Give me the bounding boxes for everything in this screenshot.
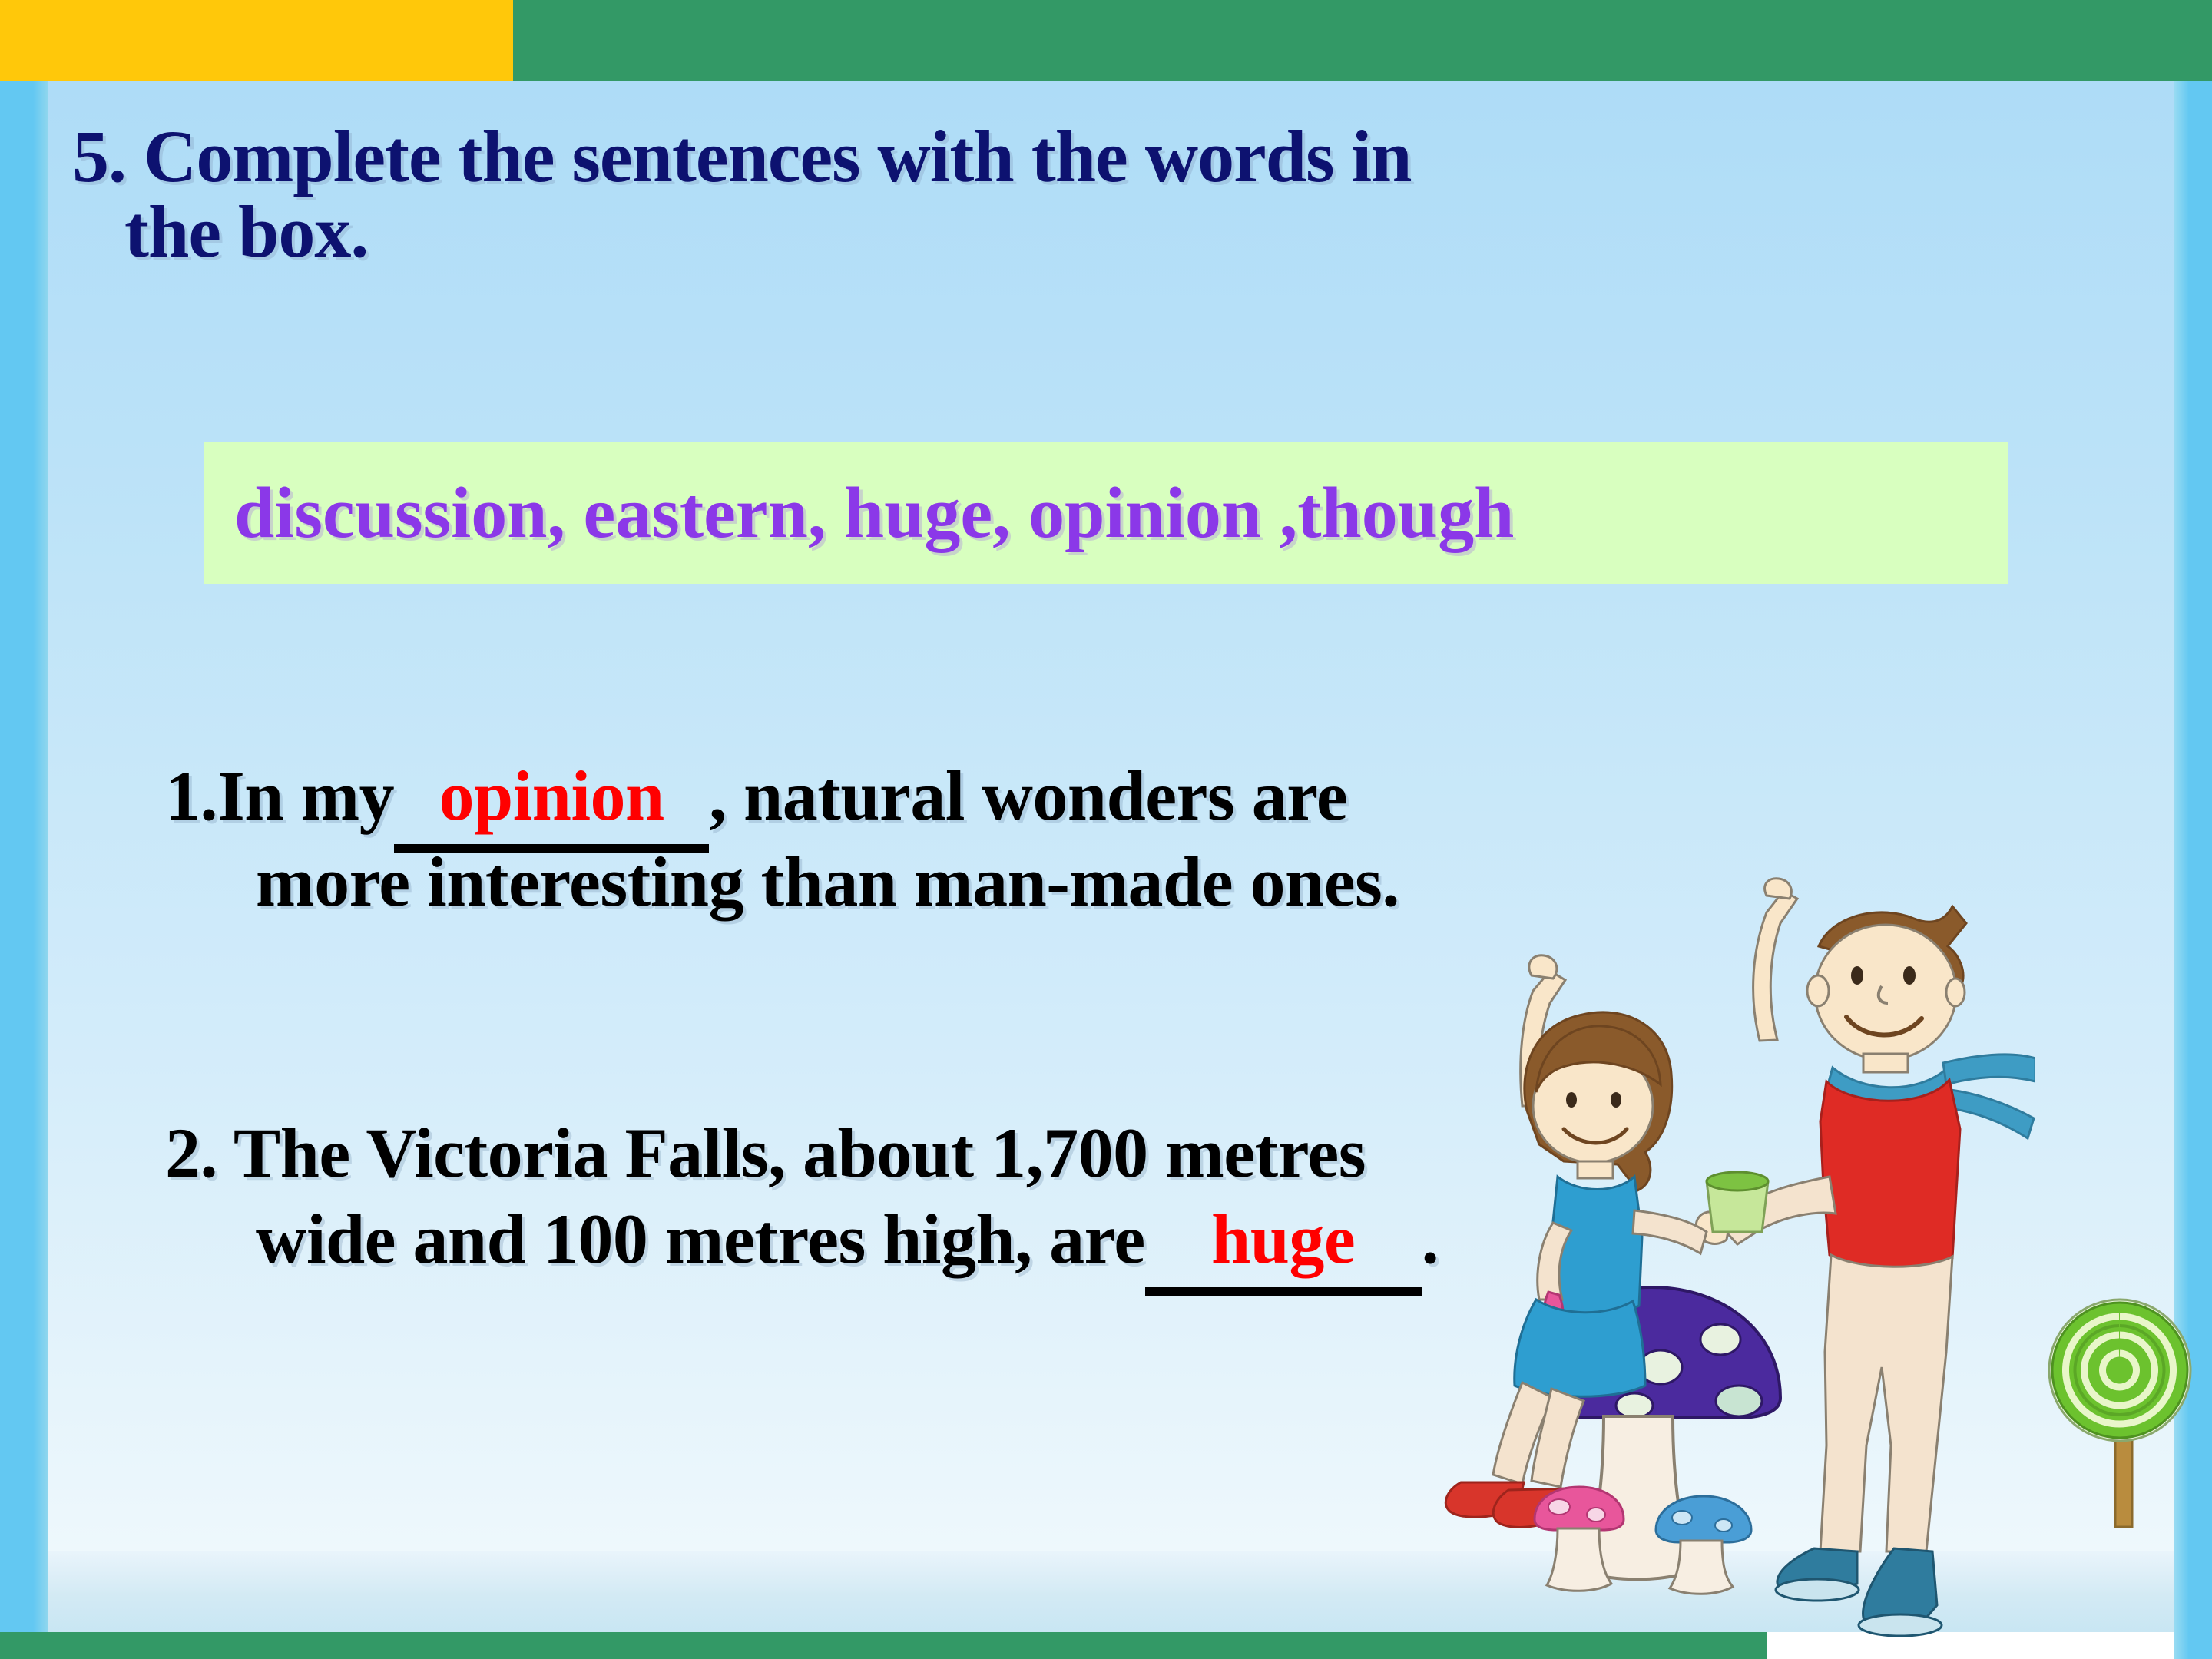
exercise-2-continuation-after: . bbox=[1422, 1200, 1439, 1278]
exercise-1-blank-rule bbox=[394, 844, 709, 853]
exercise-1-after: , natural wonders are bbox=[709, 757, 1347, 835]
bottom-green-bar bbox=[0, 1632, 1767, 1659]
exercise-1: 1.In myopinion, natural wonders are more… bbox=[165, 753, 1399, 925]
exercise-2-blank-rule bbox=[1145, 1287, 1422, 1296]
word-bank-text: discussion, eastern, huge, opinion ,thou… bbox=[204, 477, 1514, 549]
exercise-2-before: The Victoria Falls, about 1,700 metres bbox=[233, 1114, 1366, 1192]
slide-canvas: 5. Complete the sentences with the words… bbox=[0, 0, 2212, 1659]
exercise-1-blank[interactable]: opinion bbox=[394, 753, 709, 839]
slide-content-base bbox=[48, 1551, 2174, 1632]
exercise-2-blank[interactable]: huge bbox=[1145, 1196, 1422, 1282]
top-right-green-bar bbox=[513, 0, 2212, 81]
exercise-1-number: 1. bbox=[165, 757, 217, 835]
page-title: 5. Complete the sentences with the words… bbox=[72, 119, 2038, 270]
word-bank-box: discussion, eastern, huge, opinion ,thou… bbox=[204, 442, 2008, 584]
top-left-yellow-bar bbox=[0, 0, 513, 81]
exercise-2-answer: huge bbox=[1211, 1200, 1355, 1278]
exercise-2-continuation: wide and 100 metres high, arehuge. bbox=[165, 1196, 1439, 1282]
exercise-1-answer: opinion bbox=[439, 757, 664, 835]
exercise-2-number: 2. bbox=[165, 1114, 217, 1192]
page-title-line-1: 5. Complete the sentences with the words… bbox=[72, 115, 1412, 197]
exercise-1-continuation: more interesting than man-made ones. bbox=[165, 839, 1399, 925]
exercise-2-continuation-before: wide and 100 metres high, are bbox=[256, 1200, 1145, 1278]
page-title-line-2: the box. bbox=[72, 194, 2038, 270]
exercise-2: 2. The Victoria Falls, about 1,700 metre… bbox=[165, 1110, 1439, 1282]
exercise-1-before: In my bbox=[217, 757, 394, 835]
left-border-band bbox=[0, 81, 48, 1659]
lollipop-icon bbox=[2043, 1290, 2197, 1544]
